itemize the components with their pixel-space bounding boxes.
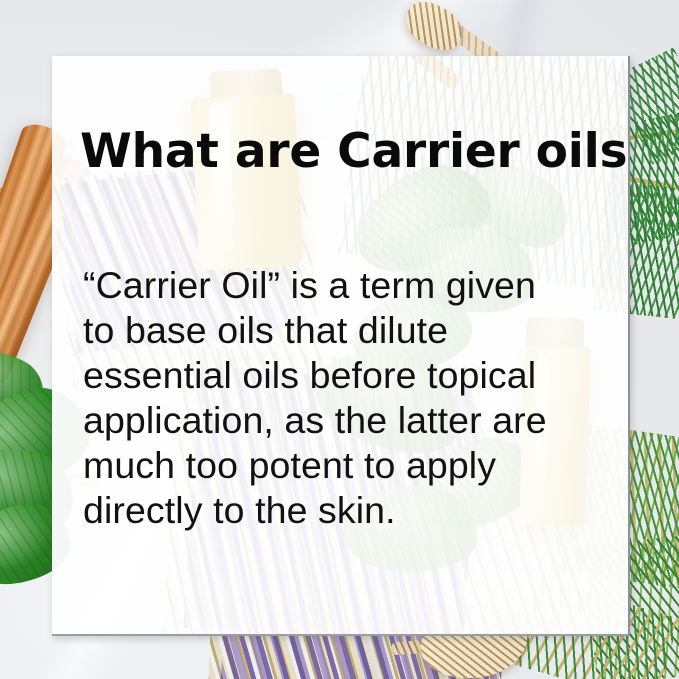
page-title: What are Carrier oils ?: [80, 124, 630, 179]
body-line: essential oils before topical: [83, 353, 623, 398]
body-line: application, as the latter are: [83, 398, 623, 443]
white-overlay-card: What are Carrier oils ? “Carrier Oil” is…: [52, 56, 630, 636]
body-line: to base oils that dilute: [83, 308, 623, 353]
carrier-oils-infographic: What are Carrier oils ? “Carrier Oil” is…: [0, 0, 679, 679]
text-layer: What are Carrier oils ? “Carrier Oil” is…: [52, 56, 628, 634]
body-line: “Carrier Oil” is a term given: [83, 263, 623, 308]
body-line: much too potent to apply: [83, 443, 623, 488]
body-line: directly to the skin.: [83, 488, 623, 533]
body-paragraph: “Carrier Oil” is a term givento base oil…: [83, 263, 623, 533]
